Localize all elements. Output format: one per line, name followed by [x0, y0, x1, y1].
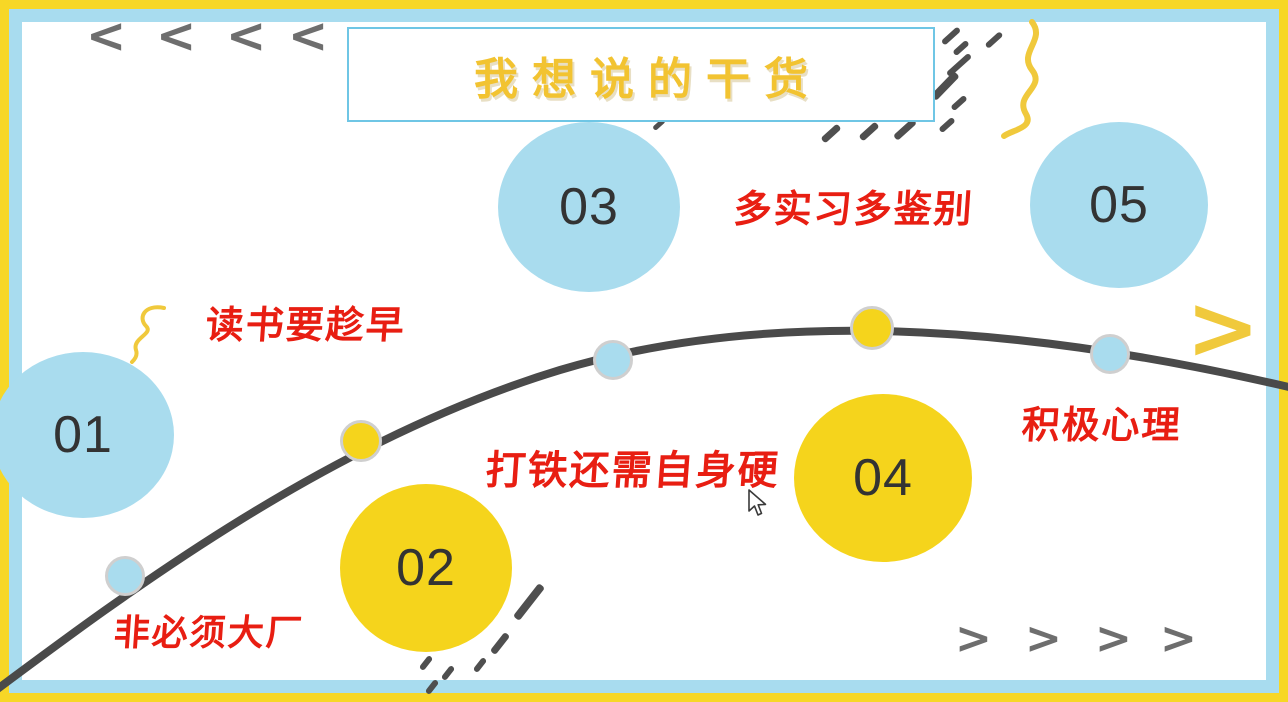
timeline-node-01[interactable]	[105, 556, 145, 596]
page-title: 我想说的干货	[460, 43, 822, 107]
step-balloon-01[interactable]: 01	[0, 352, 174, 518]
squiggle-decor-left	[112, 302, 172, 364]
timeline-node-02[interactable]	[340, 420, 382, 462]
timeline-node-05[interactable]	[1090, 334, 1130, 374]
step-number-02: 02	[396, 538, 456, 598]
step-balloon-04[interactable]: 04	[794, 394, 972, 562]
step-label-02: 打铁还需自身硬	[484, 438, 782, 496]
step-number-01: 01	[53, 405, 113, 465]
chevron-right-decor-2: >	[1025, 613, 1062, 664]
step-label-03: 读书要趁早	[204, 294, 408, 349]
step-balloon-03[interactable]: 03	[498, 122, 680, 292]
step-balloon-02[interactable]: 02	[340, 484, 512, 652]
chevron-left-decor-1: <	[86, 8, 126, 64]
squiggle-decor-right	[960, 18, 1050, 148]
chevron-right-decor-3: >	[1095, 613, 1132, 664]
slide-canvas: < < < < > > > > > 01 非必须大厂	[0, 0, 1288, 702]
chevron-right-decor-4: >	[1160, 613, 1197, 664]
mouse-cursor	[748, 489, 770, 519]
timeline-node-03[interactable]	[593, 340, 633, 380]
step-balloon-05[interactable]: 05	[1030, 122, 1208, 288]
slide-title-box: 我想说的干货	[347, 27, 935, 122]
chevron-right-decor-1: >	[955, 613, 992, 664]
step-number-03: 03	[559, 177, 619, 237]
timeline-node-04[interactable]	[850, 306, 894, 350]
step-label-04: 多实习多鉴别	[732, 178, 976, 233]
chevron-left-decor-3: <	[226, 8, 266, 64]
step-number-04: 04	[853, 448, 913, 508]
chevron-left-decor-4: <	[288, 8, 328, 64]
chevron-left-decor-2: <	[156, 8, 196, 64]
step-number-05: 05	[1089, 175, 1149, 235]
arrow-right-icon: >	[1186, 276, 1260, 379]
step-label-05: 积极心理	[1020, 394, 1184, 449]
step-label-01: 非必须大厂	[112, 604, 306, 656]
